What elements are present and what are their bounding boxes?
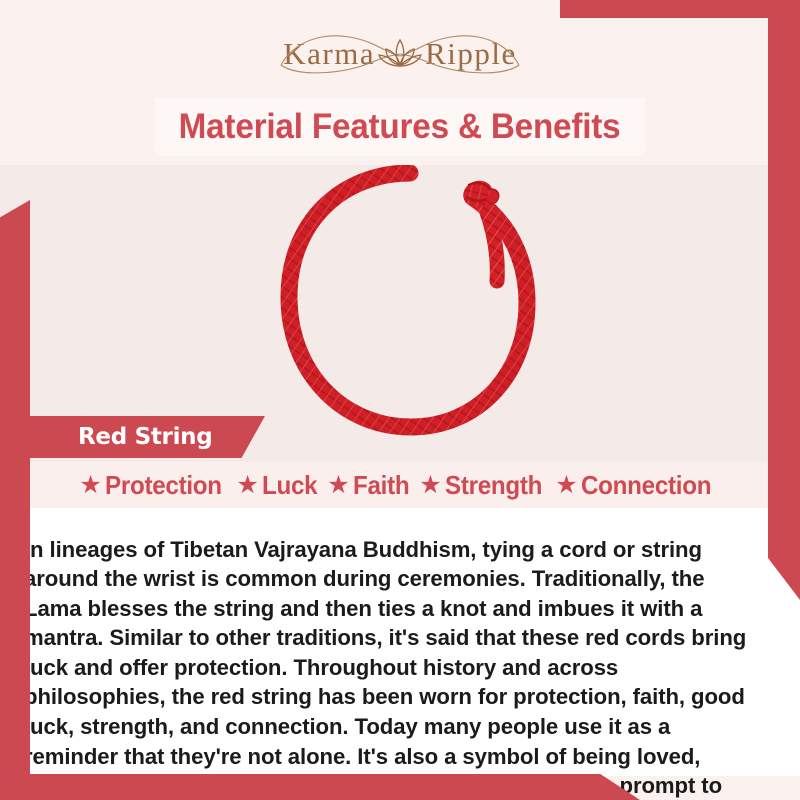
lotus-flower-icon	[377, 34, 423, 72]
red-string-bracelet-image	[245, 145, 575, 475]
infographic-card: Karma Ripple Material Fea	[0, 0, 800, 800]
benefit-item: ★ Luck	[236, 470, 321, 501]
frame-accent-top-right	[560, 0, 800, 18]
product-image-area	[0, 165, 800, 510]
benefit-item: ★ Strength	[419, 470, 549, 501]
product-name-banner: Red String	[30, 416, 265, 458]
frame-accent-left	[0, 200, 30, 780]
description-paragraph: In lineages of Tibetan Vajrayana Buddhis…	[24, 535, 765, 800]
logo-swirl-decoration	[271, 25, 529, 81]
benefit-label: Protection	[105, 470, 222, 501]
brand-word-left: Karma	[283, 38, 375, 69]
frame-accent-right	[768, 0, 800, 600]
brand-word-right: Ripple	[425, 38, 517, 69]
page-title: Material Features & Benefits	[179, 107, 621, 147]
star-icon: ★	[419, 473, 441, 498]
benefit-label: Luck	[262, 470, 317, 501]
brand-logo-inner: Karma Ripple	[283, 34, 517, 72]
benefit-item: ★ Faith	[327, 470, 413, 501]
title-band: Material Features & Benefits	[155, 98, 645, 156]
benefit-item: ★ Connection	[555, 470, 720, 501]
star-icon: ★	[79, 473, 101, 498]
star-icon: ★	[327, 473, 349, 498]
benefit-label: Faith	[353, 470, 409, 501]
benefit-label: Connection	[581, 470, 711, 501]
star-icon: ★	[555, 473, 577, 498]
header-section: Karma Ripple Material Fea	[0, 0, 800, 165]
benefit-item: ★ Protection	[79, 470, 230, 501]
benefit-label: Strength	[445, 470, 542, 501]
brand-logo: Karma Ripple	[0, 34, 800, 72]
description-section: In lineages of Tibetan Vajrayana Buddhis…	[0, 508, 800, 776]
benefits-row: ★ Protection ★ Luck ★ Faith ★ Strength ★…	[0, 462, 800, 508]
star-icon: ★	[236, 473, 258, 498]
frame-accent-bottom	[0, 774, 640, 800]
product-name-label: Red String	[30, 424, 212, 450]
